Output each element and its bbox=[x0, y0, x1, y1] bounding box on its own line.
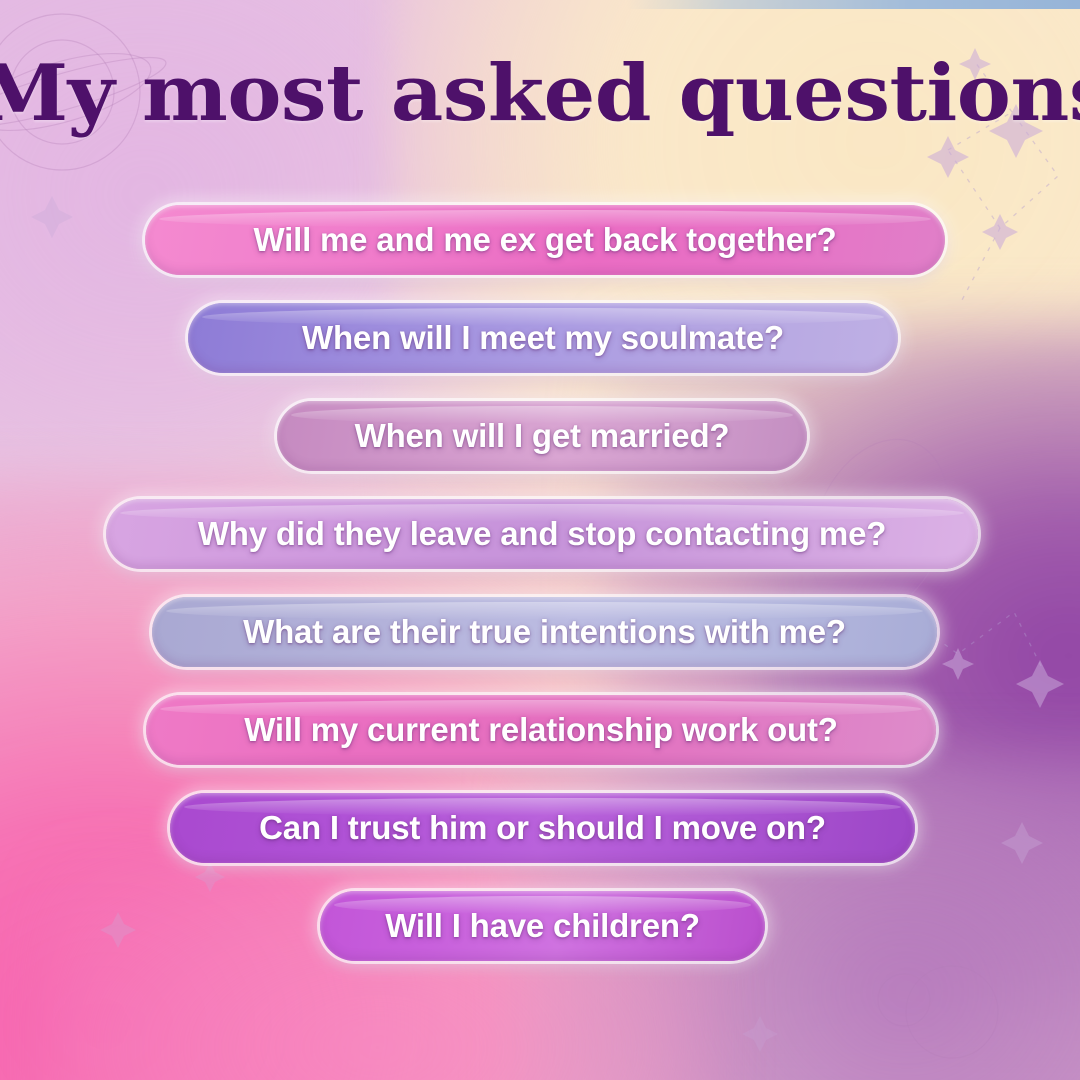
question-label: Why did they leave and stop contacting m… bbox=[198, 515, 886, 553]
poster-canvas: My most asked questions Will me and me e… bbox=[0, 0, 1080, 1080]
question-label: Will I have children? bbox=[385, 907, 700, 945]
question-pill-why-they-left[interactable]: Why did they leave and stop contacting m… bbox=[106, 499, 978, 569]
page-title: My most asked questions bbox=[0, 53, 1080, 135]
question-pill-meet-soulmate[interactable]: When will I meet my soulmate? bbox=[188, 303, 898, 373]
question-label: When will I get married? bbox=[355, 417, 730, 455]
question-row: When will I meet my soulmate? bbox=[0, 303, 1080, 401]
question-pill-relationship-work[interactable]: Will my current relationship work out? bbox=[146, 695, 936, 765]
question-pill-trust-or-move-on[interactable]: Can I trust him or should I move on? bbox=[170, 793, 915, 863]
question-label: Will my current relationship work out? bbox=[244, 711, 838, 749]
question-label: What are their true intentions with me? bbox=[243, 613, 846, 651]
question-row: Can I trust him or should I move on? bbox=[0, 793, 1080, 891]
question-row: Why did they leave and stop contacting m… bbox=[0, 499, 1080, 597]
question-row: What are their true intentions with me? bbox=[0, 597, 1080, 695]
question-pill-ex-back-together[interactable]: Will me and me ex get back together? bbox=[145, 205, 945, 275]
top-edge-blue-strip bbox=[626, 0, 1080, 9]
question-label: Can I trust him or should I move on? bbox=[259, 809, 826, 847]
question-row: Will me and me ex get back together? bbox=[0, 205, 1080, 303]
question-row: Will I have children? bbox=[0, 891, 1080, 989]
question-label: Will me and me ex get back together? bbox=[254, 221, 837, 259]
question-label: When will I meet my soulmate? bbox=[302, 319, 784, 357]
question-row: Will my current relationship work out? bbox=[0, 695, 1080, 793]
question-pill-get-married[interactable]: When will I get married? bbox=[277, 401, 807, 471]
question-list: Will me and me ex get back together? Whe… bbox=[0, 205, 1080, 989]
question-pill-true-intentions[interactable]: What are their true intentions with me? bbox=[152, 597, 937, 667]
question-row: When will I get married? bbox=[0, 401, 1080, 499]
question-pill-have-children[interactable]: Will I have children? bbox=[320, 891, 765, 961]
